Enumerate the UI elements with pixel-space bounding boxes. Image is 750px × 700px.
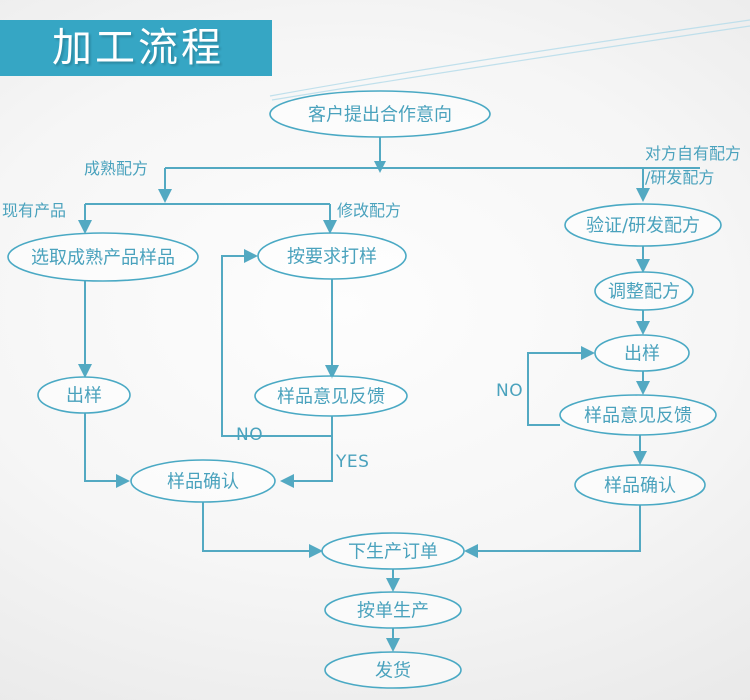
arrow-adjust-to-out bbox=[636, 321, 650, 335]
arrow-out-to-feedback-right bbox=[636, 381, 650, 395]
node-produce-label: 按单生产 bbox=[357, 601, 429, 622]
arrow-order-to-produce bbox=[386, 578, 400, 592]
edge-label-modify-formula: 修改配方 bbox=[337, 201, 401, 220]
edge-label-own-formula-2: /研发配方 bbox=[645, 168, 714, 187]
node-start[interactable]: 客户提出合作意向 bbox=[270, 91, 490, 137]
node-confirm-right[interactable]: 样品确认 bbox=[575, 465, 705, 505]
node-verify-formula[interactable]: 验证/研发配方 bbox=[565, 204, 721, 246]
edge-label-own-formula-1: 对方自有配方 bbox=[645, 144, 741, 163]
node-confirm-right-label: 样品确认 bbox=[604, 476, 676, 497]
nodes-group: 客户提出合作意向 选取成熟产品样品 出样 按要求打样 样品意见反馈 样品确认 bbox=[8, 91, 721, 688]
node-pick-mature-sample[interactable]: 选取成熟产品样品 bbox=[8, 233, 198, 281]
arrow-pick-to-out bbox=[78, 364, 92, 378]
edge-confirm-right-to-order bbox=[472, 505, 640, 551]
edge-label-mature-formula: 成熟配方 bbox=[84, 159, 148, 178]
node-adjust-formula-label: 调整配方 bbox=[608, 282, 680, 303]
arrow-confirm-right-to-order bbox=[464, 544, 478, 558]
arrow-no-loop-right bbox=[581, 346, 595, 360]
arrow-down-split bbox=[158, 189, 172, 203]
arrow-produce-to-ship bbox=[386, 638, 400, 652]
node-make-sample-label: 按要求打样 bbox=[287, 247, 377, 268]
arrow-out-to-confirm bbox=[116, 474, 130, 488]
node-feedback-mid-label: 样品意见反馈 bbox=[277, 387, 385, 408]
arrow-to-verify bbox=[636, 188, 650, 202]
arrow-confirm-to-order bbox=[309, 544, 323, 558]
decorative-curve bbox=[270, 20, 750, 96]
edge-label-no-right: NO bbox=[496, 381, 523, 401]
node-make-sample[interactable]: 按要求打样 bbox=[258, 233, 406, 279]
edge-label-existing-product: 现有产品 bbox=[2, 201, 66, 220]
edge-label-yes-mid: YES bbox=[335, 452, 369, 472]
arrow-no-loop-mid bbox=[244, 249, 258, 263]
node-produce[interactable]: 按单生产 bbox=[325, 592, 461, 628]
node-confirm-left-label: 样品确认 bbox=[167, 472, 239, 493]
arrow-yes-to-confirm bbox=[280, 474, 294, 488]
node-verify-formula-label: 验证/研发配方 bbox=[586, 216, 700, 237]
edge-yes-to-confirm bbox=[288, 416, 332, 481]
edge-confirm-to-order bbox=[203, 502, 315, 551]
node-start-label: 客户提出合作意向 bbox=[308, 105, 452, 126]
edge-out-to-confirm bbox=[85, 413, 122, 481]
arrow-to-pick-sample bbox=[78, 220, 92, 234]
node-sample-out-left[interactable]: 出样 bbox=[38, 377, 130, 413]
flowchart-page: 加工流程 bbox=[0, 0, 750, 700]
arrow-feedback-to-confirm-right bbox=[633, 451, 647, 465]
arrow-to-make-sample bbox=[323, 220, 337, 234]
node-sample-out-right-label: 出样 bbox=[624, 344, 660, 365]
node-ship[interactable]: 发货 bbox=[325, 652, 461, 688]
node-place-order-label: 下生产订单 bbox=[348, 542, 438, 563]
flowchart-canvas: 客户提出合作意向 选取成熟产品样品 出样 按要求打样 样品意见反馈 样品确认 bbox=[0, 0, 750, 700]
node-sample-out-left-label: 出样 bbox=[66, 386, 102, 407]
node-feedback-mid[interactable]: 样品意见反馈 bbox=[255, 376, 407, 416]
node-confirm-left[interactable]: 样品确认 bbox=[131, 460, 275, 502]
node-adjust-formula[interactable]: 调整配方 bbox=[595, 272, 693, 310]
node-sample-out-right[interactable]: 出样 bbox=[595, 335, 689, 371]
node-feedback-right[interactable]: 样品意见反馈 bbox=[560, 395, 716, 435]
decorative-curve-2 bbox=[272, 26, 750, 100]
node-feedback-right-label: 样品意见反馈 bbox=[584, 406, 692, 427]
node-pick-mature-sample-label: 选取成熟产品样品 bbox=[31, 248, 175, 269]
node-place-order[interactable]: 下生产订单 bbox=[322, 533, 464, 569]
node-ship-label: 发货 bbox=[375, 661, 411, 682]
edge-label-no-mid: NO bbox=[236, 425, 263, 445]
arrow-verify-to-adjust bbox=[636, 259, 650, 273]
